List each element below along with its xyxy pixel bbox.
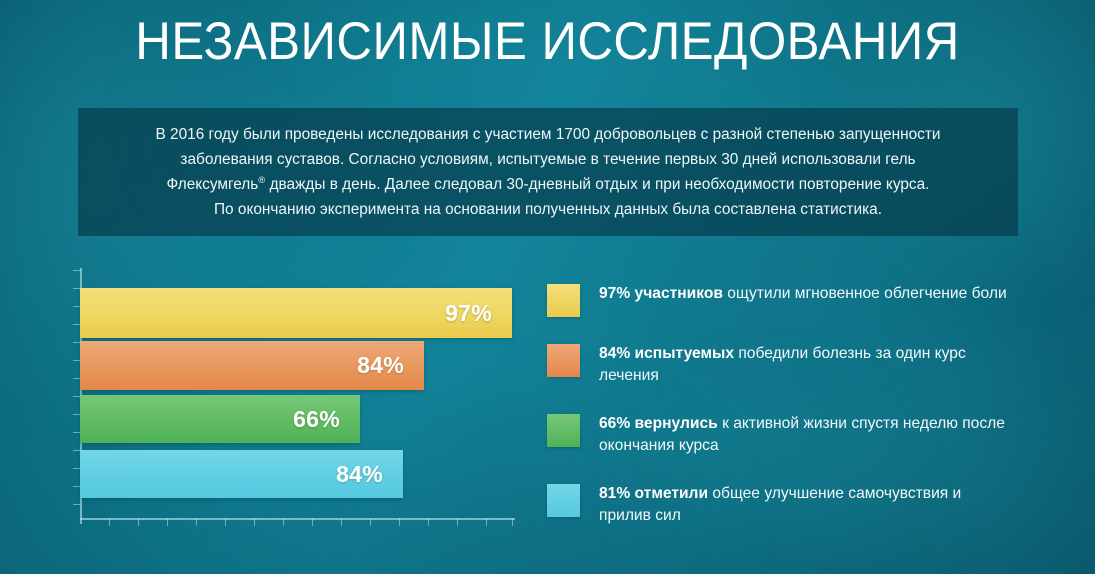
bar-row: 66%	[80, 395, 360, 443]
legend-item: 97% участников ощутили мгновенное облегч…	[547, 282, 1017, 317]
x-axis-tick	[225, 518, 226, 526]
legend-item: 84% испытуемых победили болезнь за один …	[547, 342, 1017, 387]
legend-item-label: 97% участников ощутили мгновенное облегч…	[599, 282, 1007, 305]
x-axis-tick	[138, 518, 139, 526]
product-name: Флексумгель	[167, 176, 259, 193]
x-axis-tick	[167, 518, 168, 526]
legend-item-label: 81% отметили общее улучшение самочувстви…	[599, 482, 1017, 527]
x-axis-tick	[370, 518, 371, 526]
bar-chart: 97% 84% 66% 84%	[60, 262, 530, 532]
intro-line-3: Флексумгель® дважды в день. Далее следов…	[98, 172, 998, 197]
x-axis-tick	[254, 518, 255, 526]
page-title: НЕЗАВИСИМЫЕ ИССЛЕДОВАНИЯ	[38, 14, 1056, 70]
intro-line-4: По окончанию эксперимента на основании п…	[98, 197, 998, 222]
bar-row: 97%	[80, 288, 512, 338]
infographic-slide: НЕЗАВИСИМЫЕ ИССЛЕДОВАНИЯ В 2016 году был…	[0, 0, 1095, 574]
chart-legend: 97% участников ощутили мгновенное облегч…	[547, 282, 1017, 552]
legend-item-rest: ощутили мгновенное облегчение боли	[723, 285, 1007, 302]
legend-item: 66% вернулись к активной жизни спустя не…	[547, 412, 1017, 457]
bar-value-label: 84%	[357, 352, 424, 379]
x-axis	[80, 518, 515, 520]
x-axis-tick	[457, 518, 458, 526]
legend-color-swatch	[547, 284, 580, 317]
x-axis-tick	[486, 518, 487, 526]
bar-value-label: 66%	[293, 406, 360, 433]
x-axis-tick	[283, 518, 284, 526]
intro-text: В 2016 году были проведены исследования …	[98, 122, 998, 222]
x-axis-tick	[109, 518, 110, 526]
intro-line-2: заболевания суставов. Согласно условиям,…	[98, 147, 998, 172]
x-axis-tick	[312, 518, 313, 526]
x-axis-tick	[399, 518, 400, 526]
x-axis-tick	[428, 518, 429, 526]
legend-item-label: 84% испытуемых победили болезнь за один …	[599, 342, 1017, 387]
intro-line-3-rest: дважды в день. Далее следовал 30-дневный…	[265, 176, 929, 193]
bar-row: 84%	[80, 341, 424, 390]
intro-panel: В 2016 году были проведены исследования …	[78, 108, 1018, 236]
legend-item-emphasis: 66% вернулись	[599, 415, 718, 432]
y-axis-tick	[73, 270, 81, 271]
x-axis-tick	[512, 518, 513, 526]
intro-line-1: В 2016 году были проведены исследования …	[98, 122, 998, 147]
y-axis-tick	[73, 504, 81, 505]
legend-color-swatch	[547, 484, 580, 517]
bar-row: 84%	[80, 450, 403, 498]
legend-color-swatch	[547, 344, 580, 377]
x-axis-tick	[341, 518, 342, 526]
legend-color-swatch	[547, 414, 580, 447]
legend-item-emphasis: 81% отметили	[599, 485, 708, 502]
bar-value-label: 97%	[445, 300, 512, 327]
legend-item: 81% отметили общее улучшение самочувстви…	[547, 482, 1017, 527]
bar-value-label: 84%	[336, 461, 403, 488]
legend-item-emphasis: 84% испытуемых	[599, 345, 734, 362]
x-axis-tick	[196, 518, 197, 526]
legend-item-emphasis: 97% участников	[599, 285, 723, 302]
legend-item-label: 66% вернулись к активной жизни спустя не…	[599, 412, 1017, 457]
